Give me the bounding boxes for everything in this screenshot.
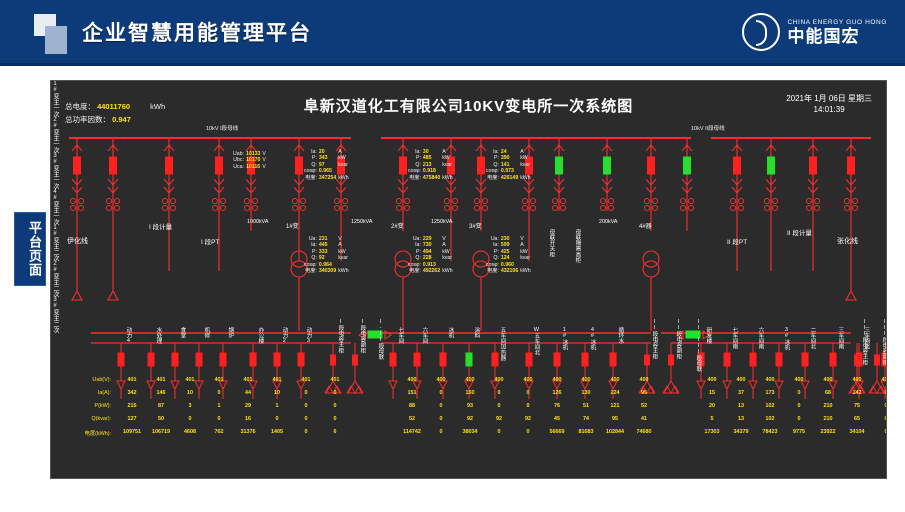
measurement-cell: 400 (815, 377, 841, 383)
feeder-label: W五车间北 (533, 327, 539, 355)
incoming-line-2-label: 张化线 (837, 236, 858, 246)
transformer-3-primary-key: 电度: (486, 175, 501, 181)
measurement-cell: 210 (815, 403, 841, 409)
measurement-cell: 74680 (627, 429, 661, 435)
measurement-cell: 126 (544, 390, 570, 396)
measurement-cell: 0 (486, 403, 512, 409)
measurement-cell: 210 (815, 416, 841, 422)
measurement-cell: 5 (699, 416, 725, 422)
transformer-1-capacity: 1000kVA (247, 219, 268, 225)
measurement-cell: 401 (206, 377, 232, 383)
feeder-label: 循环水 (617, 327, 623, 344)
feeder-label: 研发楼 (705, 327, 711, 344)
measurement-cell: 37 (728, 390, 754, 396)
measurement-cell: 0 (322, 390, 348, 396)
bus-voltage-row: Ubc:10170V (233, 157, 268, 163)
feeder-label: 动力3 (305, 327, 311, 344)
transformer-2-primary-key: 电度: (408, 175, 423, 181)
measurement-row-label: Q(kvar): (61, 416, 111, 422)
feeder-label: 3#冰机 (783, 327, 789, 350)
measurement-cell: 142 (844, 390, 870, 396)
brand-name-en: CHINA ENERGY GUO HONG (787, 18, 887, 27)
feeder-label: 冰机 (447, 327, 453, 338)
sidebar-tab-platform-page[interactable]: 平台页面 (14, 212, 46, 286)
measurement-row: P(kW):2158731291008809300765112152201310… (51, 403, 886, 415)
measurement-cell: 68 (815, 390, 841, 396)
pt-1-label: I 段PT (201, 236, 219, 246)
transformer-3-primary-data: Ia:24AP:390kWQ:141kvarcosφ:0.973电度:42614… (486, 149, 533, 181)
measurement-cell: 400 (573, 377, 599, 383)
measurement-cell: 16 (235, 416, 261, 422)
transformer-2-secondary-key: 电度: (408, 268, 423, 274)
feeder-label: 食堂 (179, 327, 185, 338)
transformer-3-name: 3#变 (469, 221, 482, 230)
measurement-cell: 0 (206, 390, 232, 396)
capacitor-label: III段电容主柜 (861, 319, 867, 365)
measurement-cell: 3 (177, 403, 203, 409)
transformer-1-primary-data: Ia:20AP:343kWQ:97kvarcosφ:0.965电度:347254… (304, 149, 351, 181)
measurement-cell: 0 (264, 416, 290, 422)
feeder-label: 涂料 (473, 327, 479, 338)
measurement-cell: 400 (631, 377, 657, 383)
measurement-cell: 400 (428, 377, 454, 383)
transformer-2-name: 2#变 (391, 221, 404, 230)
transformer-1-secondary-unit: kWh (338, 268, 350, 274)
feeder-label: 七车间 (397, 327, 403, 344)
feeder-label: 七车间南 (731, 327, 737, 349)
measurement-cell: 400 (457, 377, 483, 383)
transformer-3-primary-value: 426149 (501, 175, 520, 181)
metering-2-label: II 段计量 (787, 227, 812, 237)
transformer-1-primary-unit: kWh (338, 175, 350, 181)
measurement-cell: 92 (515, 416, 541, 422)
measurement-cell: 74 (573, 416, 599, 422)
measurement-cell: 6 (318, 429, 352, 435)
measurement-cell: 401 (293, 377, 319, 383)
measurement-row-label: Uab(V): (61, 377, 111, 383)
transformer-1-primary-key: 电度: (304, 175, 319, 181)
measurement-cell: 0 (293, 390, 319, 396)
measurement-cell: 45 (544, 416, 570, 422)
measurement-cell: 0 (873, 403, 887, 409)
measurement-cell: 0 (293, 403, 319, 409)
measurement-cell: 0 (869, 429, 887, 435)
bus-tie-label: I-II段母联 (377, 319, 383, 360)
transformer-1-secondary-row: 电度:340309kWh (304, 268, 351, 274)
bus-voltage-unit: V (262, 164, 267, 170)
measurement-cell: 224 (602, 390, 628, 396)
feeder-label: 1#冰机 (561, 327, 567, 350)
measurement-cell: 401 (264, 377, 290, 383)
transformer-1-secondary-data: Ua:231VIa:445AP:333kWQ:92kvarcosφ:0.964电… (304, 236, 351, 274)
measurement-cell: 102 (757, 403, 783, 409)
feeder-label: 4#冰机 (589, 327, 595, 350)
measurement-row-label: Ia(A): (61, 390, 111, 396)
measurement-cell: 0 (786, 403, 812, 409)
transformer-1-primary-value: 347254 (319, 175, 338, 181)
measurement-cell: 146 (148, 390, 174, 396)
measurement-cell: 0 (515, 390, 541, 396)
feeder-label: 三车间南 (837, 327, 843, 349)
measurement-cell: 400 (873, 377, 887, 383)
measurement-cell: 10 (177, 390, 203, 396)
measurement-cell: 51 (573, 403, 599, 409)
measurement-cell: 401 (148, 377, 174, 383)
measurement-cell: 0 (293, 416, 319, 422)
capacitor-label: I段电容主柜 (337, 319, 343, 353)
measurement-cell: 401 (177, 377, 203, 383)
transformer-3-secondary-key: 电度: (486, 268, 501, 274)
transformer-3-secondary-row: Q:124kvar (486, 255, 533, 261)
transformer-2-secondary-value: 492262 (423, 268, 442, 274)
measurement-cell: 52 (399, 416, 425, 422)
bus-tie-isolator-label: 母联隔离高柜 (574, 229, 580, 263)
transformer-2-primary-data: Ia:30AP:485kWQ:213kvarcosφ:0.918电度:47584… (408, 149, 455, 181)
measurement-cell: 95 (631, 390, 657, 396)
feeder-label: 办公楼 (257, 327, 263, 344)
measurement-row-label: P(kW): (61, 403, 111, 409)
measurement-cell: 29 (235, 403, 261, 409)
transformer-3-capacity: 1250kVA (431, 219, 452, 225)
bus-voltage-value: 10170 (246, 157, 262, 163)
transformer-2-primary-value: 475840 (423, 175, 442, 181)
app-header: 企业智慧用能管理平台 CHINA ENERGY GUO HONG 中能国宏 (0, 0, 905, 66)
measurement-cell: 87 (148, 403, 174, 409)
logo-icon (34, 14, 74, 54)
transformer-3-secondary-row: 电度:432106kWh (486, 268, 533, 274)
measurement-row: Uab(V):401401401401401401401401400400400… (51, 377, 886, 389)
measurement-cell: 401 (119, 377, 145, 383)
measurement-row: Q(kvar):12750001600052092929245749541513… (51, 416, 886, 428)
transformer-1-primary-key: cosφ: (304, 168, 319, 174)
measurement-cell: 50 (148, 416, 174, 422)
measurement-cell: 215 (119, 403, 145, 409)
measurement-cell: 92 (486, 416, 512, 422)
measurement-cell: 52 (631, 403, 657, 409)
bus-voltage-block: Uab:10133VUbc:10170VUca:10116V (233, 151, 268, 170)
transformer-3-primary-unit: kWh (520, 175, 532, 181)
metering-1-label: I 段计量 (149, 221, 172, 231)
transformer-1-primary-row: 电度:347254kWh (304, 175, 351, 181)
measurement-cell: 400 (757, 377, 783, 383)
measurement-cell: 0 (873, 390, 887, 396)
measurement-cell: 400 (728, 377, 754, 383)
transformer-2-primary-row: 电度:475840kWh (408, 175, 455, 181)
transformer-2-capacity: 1250kVA (351, 219, 372, 225)
measurement-cell: 342 (119, 390, 145, 396)
transformer-2-primary-unit: kWh (442, 175, 454, 181)
measurement-cell: 0 (786, 390, 812, 396)
transformer-4-capacity: 200kVA (599, 219, 617, 225)
measurement-cell: 0 (322, 416, 348, 422)
measurement-cell: 400 (544, 377, 570, 383)
feeder-label: 二车间北 (809, 327, 815, 349)
feeder-label: 水处理 (155, 327, 161, 344)
brand-mark-icon (742, 13, 780, 51)
capacitor-label: II段电容副柜 (675, 319, 681, 359)
measurement-cell: 151 (399, 390, 425, 396)
measurement-cell: 20 (699, 403, 725, 409)
feeder-label: 五车间加热器 (499, 327, 505, 361)
measurement-cell: 76 (544, 403, 570, 409)
measurement-cell: 130 (573, 390, 599, 396)
measurement-cell: 150 (457, 390, 483, 396)
feeder-label: 机修 (203, 327, 209, 338)
transformer-3-primary-row: 电度:426149kWh (486, 175, 533, 181)
transformer-1-name: 1#变 (286, 221, 299, 230)
measurement-row: 电度(kWh):10975110671946087623137614050611… (51, 429, 886, 441)
bus-voltage-key: Uca: (233, 164, 246, 170)
measurement-cell: 173 (757, 390, 783, 396)
measurement-cell: 65 (844, 416, 870, 422)
measurement-cell: 88 (399, 403, 425, 409)
pt-2-label: II 段PT (727, 236, 747, 246)
measurement-cell: 13 (728, 403, 754, 409)
measurement-cell: 400 (699, 377, 725, 383)
feeder-label: 六车间南 (757, 327, 763, 349)
measurement-row-label: 电度(kWh): (61, 429, 111, 437)
measurement-cell: 0 (206, 416, 232, 422)
feeder-label: 锅炉 (227, 327, 233, 338)
capacitor-label: II段电容主柜 (651, 319, 657, 359)
measurement-cell: 75 (844, 403, 870, 409)
transformer-3-primary-key: cosφ: (486, 168, 501, 174)
measurement-cell: 15 (699, 390, 725, 396)
transformer-1-secondary-key: 电度: (304, 268, 319, 274)
measurement-cell: 400 (602, 377, 628, 383)
measurement-cell: 400 (399, 377, 425, 383)
measurement-cell: 0 (428, 390, 454, 396)
measurement-cell: 1 (206, 403, 232, 409)
measurement-cell: 401 (235, 377, 261, 383)
measurement-cell: 13 (728, 416, 754, 422)
measurement-cell: 0 (428, 403, 454, 409)
feeder-label: 动力4 (125, 327, 131, 344)
measurement-cell: 0 (515, 403, 541, 409)
transformer-4-name: 4#器 (639, 221, 652, 230)
measurement-cell: 127 (119, 416, 145, 422)
measurement-cell: 0 (786, 416, 812, 422)
measurement-cell: 0 (428, 416, 454, 422)
transformer-3-secondary-value: 432106 (501, 268, 520, 274)
sld-diagram-panel: 总电度： 44011760 kWh 总功率因数： 0.947 阜新汉道化工有限公… (50, 80, 887, 479)
capacitor-label: III段电容副柜 (881, 319, 887, 365)
measurement-cell: 1 (264, 403, 290, 409)
measurement-cell: 0 (873, 416, 887, 422)
measurement-cell: 95 (602, 416, 628, 422)
brand-logo: CHINA ENERGY GUO HONG 中能国宏 (742, 10, 887, 54)
brand-name-cn: 中能国宏 (787, 27, 887, 46)
transformer-2-secondary-data: Ua:229VIa:730AP:494kWQ:228kvarcosφ:0.913… (408, 236, 455, 274)
feeder-label: 动力2 (281, 327, 287, 344)
measurement-cell: 401 (322, 377, 348, 383)
measurement-cell: 41 (631, 416, 657, 422)
bus-tie-switch-label: 母联开关柜 (548, 229, 554, 257)
measurement-cell: 121 (602, 403, 628, 409)
measurement-cell: 400 (844, 377, 870, 383)
app-root: 企业智慧用能管理平台 CHINA ENERGY GUO HONG 中能国宏 平台… (0, 0, 905, 512)
bus-voltage-value: 10116 (246, 164, 262, 170)
transformer-1-secondary-value: 340309 (319, 268, 338, 274)
measurement-cell: 0 (322, 403, 348, 409)
transformer-2-secondary-row: Q:228kvar (408, 255, 455, 261)
bus-voltage-row: Uca:10116V (233, 164, 268, 170)
transformer-3-secondary-unit: kWh (520, 268, 532, 274)
transformer-2-secondary-row: 电度:492262kWh (408, 268, 455, 274)
incoming-line-1-label: 伊化线 (67, 236, 88, 246)
transformer-3-secondary-data: Ua:230VIa:599AP:425kWQ:124kvarcosφ:0.960… (486, 236, 533, 274)
capacitor-label: I段电容副柜 (359, 319, 365, 353)
feeder-label: 六车间 (421, 327, 427, 344)
measurement-cell: 93 (457, 403, 483, 409)
measurement-cell: 92 (457, 416, 483, 422)
transformer-2-secondary-unit: kWh (442, 268, 454, 274)
page-title: 企业智慧用能管理平台 (82, 17, 312, 47)
bus-tie-label: II-III段母联 (695, 319, 701, 372)
transformer-2-primary-key: cosφ: (408, 168, 423, 174)
measurement-cell: 102 (757, 416, 783, 422)
measurement-cell: 400 (486, 377, 512, 383)
measurement-cell: 400 (786, 377, 812, 383)
measurement-cell: 400 (515, 377, 541, 383)
measurement-row: Ia(A):3421461004410001510150001261302249… (51, 390, 886, 402)
measurement-cell: 10 (264, 390, 290, 396)
measurement-cell: 44 (235, 390, 261, 396)
measurement-cell: 0 (177, 416, 203, 422)
measurement-cell: 0 (486, 390, 512, 396)
